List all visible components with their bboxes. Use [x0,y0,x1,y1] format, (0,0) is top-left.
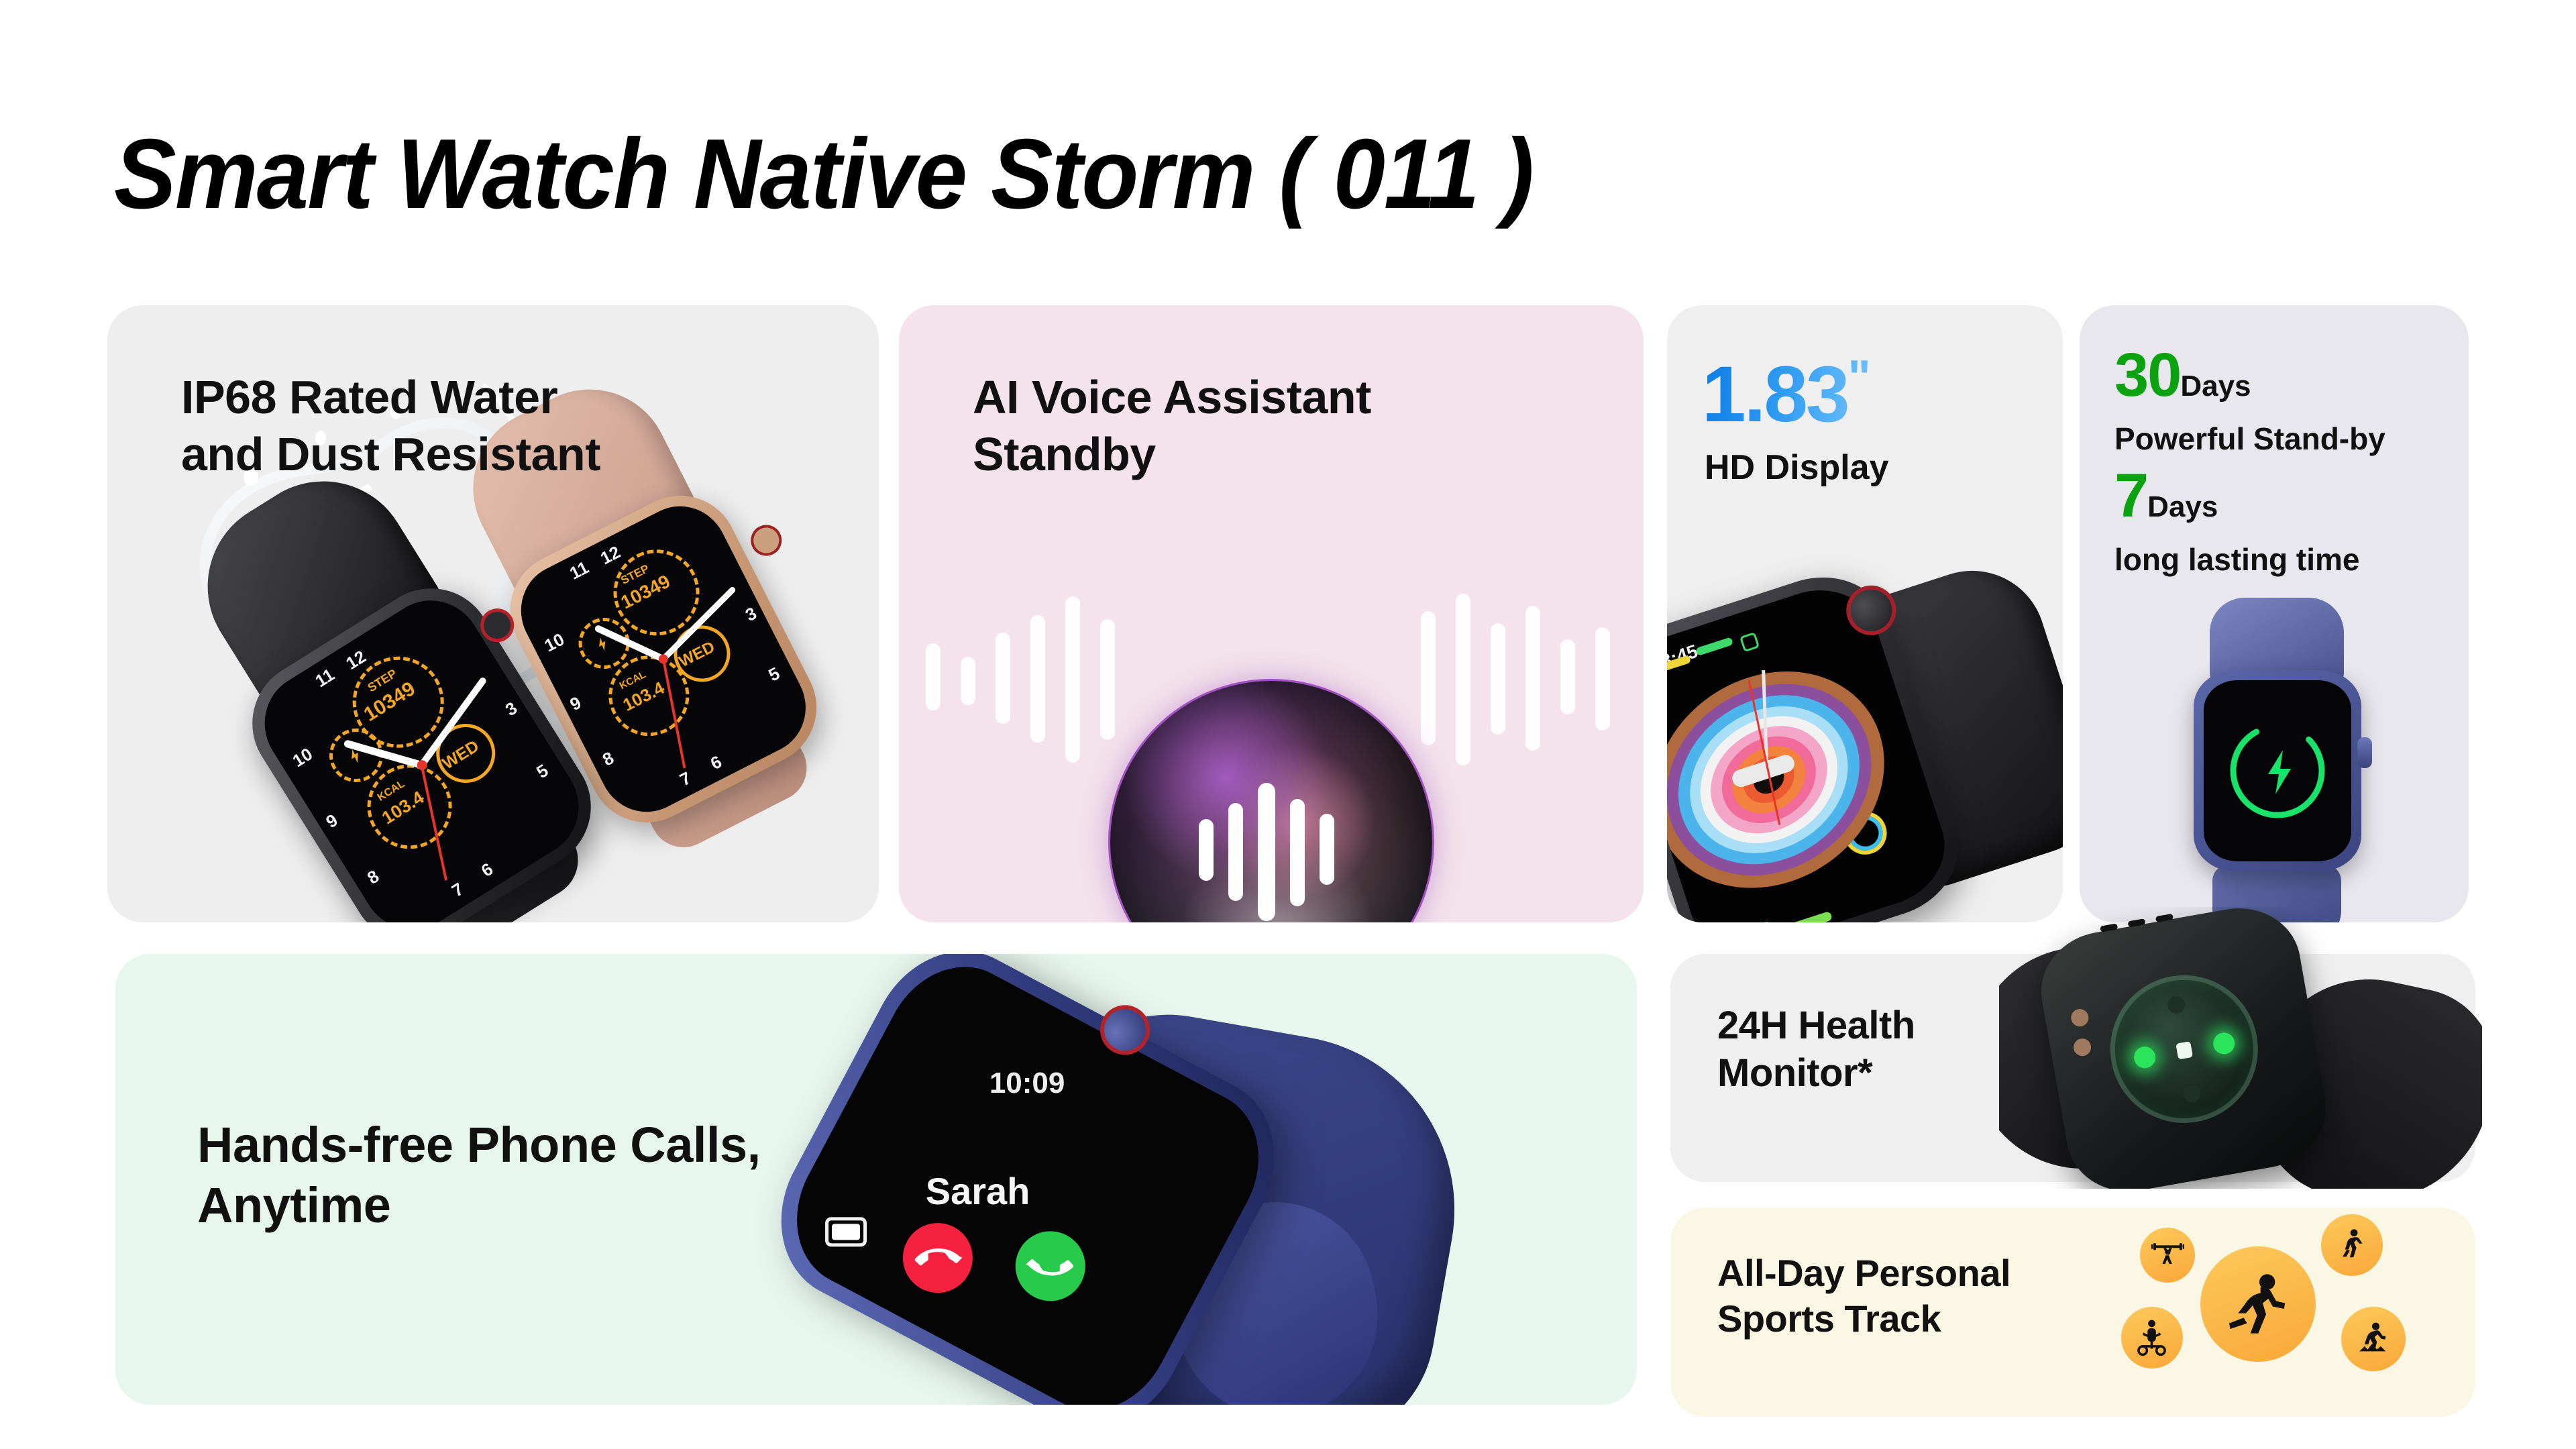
watch-hd-display: 23:45 106 HR [1667,458,2063,922]
watch-health-sensor [1999,907,2482,1189]
hd-display-subtitle: HD Display [1705,447,1889,488]
walking-icon [2321,1214,2383,1276]
charging-contact-2 [2072,1037,2092,1057]
caller-name: Sarah [926,1169,1030,1213]
card-voice-title: AI Voice Assistant Standby [973,369,1371,484]
battery-usage-desc: long lasting time [2114,541,2359,578]
walking-glyph [2332,1226,2371,1264]
watch-health-case [2032,907,2335,1189]
weightlifting-glyph [2151,1238,2185,1273]
card-health-title-line1: 24H Health [1717,1002,1915,1050]
hd-display-size: 1.83" [1702,349,1870,440]
cycling-icon [2121,1307,2183,1368]
card-ip68-title: IP68 Rated Water and Dust Resistant [181,369,600,484]
card-calls-title-line2: Anytime [197,1175,761,1236]
hd-display-value: 1.83 [1702,350,1848,439]
ppg-led-left [2133,1045,2157,1070]
card-sports-track: All-Day Personal Sports Track [1670,1207,2475,1417]
card-ai-voice-assistant: AI Voice Assistant Standby [899,305,1644,922]
card-ip68-title-line1: IP68 Rated Water [181,369,600,426]
battery-standby-unit: Days [2180,370,2251,402]
battery-icon [825,1217,867,1246]
cycling-glyph [2133,1318,2171,1356]
decline-call-button[interactable] [891,1211,985,1305]
call-time: 10:09 [989,1067,1065,1100]
weightlifting-icon [2140,1228,2195,1283]
phone-decline-icon [911,1232,964,1285]
page-title: Smart Watch Native Storm ( 011 ) [114,117,1533,231]
watch-call: Sarah 10:09 [800,954,1605,1405]
battery-usage-value: 7 [2114,462,2147,530]
card-sports-title-line2: Sports Track [1717,1296,2010,1342]
watch-charging [2182,621,2376,922]
charging-contact-1 [2070,1008,2090,1028]
battery-usage-row: 7Days [2114,461,2218,531]
card-health-title-line2: Monitor* [1717,1050,1915,1097]
card-calls-title-line1: Hands-free Phone Calls, [197,1115,761,1175]
card-ip68-title-line2: and Dust Resistant [181,426,600,483]
card-calls-title: Hands-free Phone Calls, Anytime [197,1115,761,1236]
battery-standby-value: 30 [2114,341,2180,409]
card-voice-title-line1: AI Voice Assistant [973,369,1371,426]
ppg-led-right [2212,1031,2237,1056]
phone-accept-icon [1024,1240,1077,1293]
hd-display-unit: " [1848,352,1870,405]
health-sensor-array [2098,963,2269,1134]
running-icon [2200,1246,2316,1362]
watch-charging-screen [2204,680,2351,861]
running-glyph [2222,1269,2294,1340]
card-health-title: 24H Health Monitor* [1717,1002,1915,1097]
watch-rosegold-crown [745,520,787,561]
watch-charging-case [2194,670,2361,871]
card-hands-free-calls: Hands-free Phone Calls, Anytime Sarah 10… [115,954,1637,1405]
battery-standby-desc: Powerful Stand-by [2114,421,2385,457]
card-voice-title-line2: Standby [973,426,1371,483]
hiking-icon [2341,1307,2406,1371]
battery-standby-row: 30Days [2114,340,2251,411]
card-sports-title-line1: All-Day Personal [1717,1250,2010,1296]
hiking-glyph [2353,1319,2394,1359]
card-sports-title: All-Day Personal Sports Track [1717,1250,2010,1342]
card-ip68-water-dust: IP68 Rated Water and Dust Resistant [107,305,879,922]
battery-usage-unit: Days [2147,490,2218,523]
accept-call-button[interactable] [1003,1219,1097,1313]
watch-charging-crown [2357,737,2372,768]
card-hd-display: 1.83" HD Display 23:45 106 HR [1667,305,2063,922]
card-battery-life: 30Days Powerful Stand-by 7Days long last… [2080,305,2469,922]
